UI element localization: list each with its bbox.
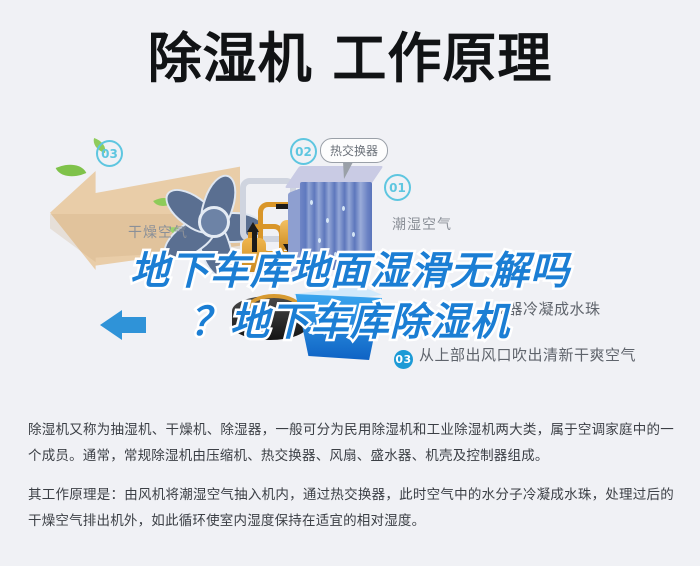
humid-air-arrowhead <box>100 310 122 340</box>
humid-air-label: 潮湿空气 <box>392 214 452 234</box>
caption-03-text: 从上部出风口吹出清新干爽空气 <box>419 346 636 364</box>
water-tank-label: 水箱 <box>308 320 334 337</box>
caption-02: 发器冷凝成水珠 <box>492 298 601 319</box>
caption-03: 03从上部出风口吹出清新干爽空气 <box>394 344 636 369</box>
leaf-icon <box>56 157 87 183</box>
heat-exchanger-callout: 热交换器 <box>320 138 388 163</box>
badge-02: 02 <box>290 138 317 165</box>
badge-01: 01 <box>384 174 411 201</box>
humid-air-arrowhead-stem <box>120 317 146 333</box>
water-tank-icon <box>290 294 382 360</box>
page-title: 除湿机 工作原理 <box>148 32 553 86</box>
caption-03-badge: 03 <box>394 350 413 369</box>
body-paragraph-2: 其工作原理是：由风机将潮湿空气抽入机内，通过热交换器，此时空气中的水分子冷凝成水… <box>28 483 674 534</box>
dry-air-label: 干燥空气 <box>128 222 188 242</box>
compressor-ring <box>246 294 302 324</box>
infographic-page: 除湿机 工作原理 <box>0 0 700 566</box>
body-paragraph-1: 除湿机又称为抽湿机、干燥机、除湿器，一般可分为民用除湿机和工业除湿机两大类，属于… <box>28 418 674 469</box>
article-body: 除湿机又称为抽湿机、干燥机、除湿器，一般可分为民用除湿机和工业除湿机两大类，属于… <box>28 418 674 549</box>
heat-exchanger-icon <box>288 166 380 274</box>
badge-03: 03 <box>96 140 123 167</box>
title-band: 除湿机 工作原理 <box>0 0 700 118</box>
dehumidifier-diagram: 水箱 03 干燥空气 02 热交换器 01 潮湿空气 发器冷凝成水珠 03从上部… <box>0 118 700 396</box>
